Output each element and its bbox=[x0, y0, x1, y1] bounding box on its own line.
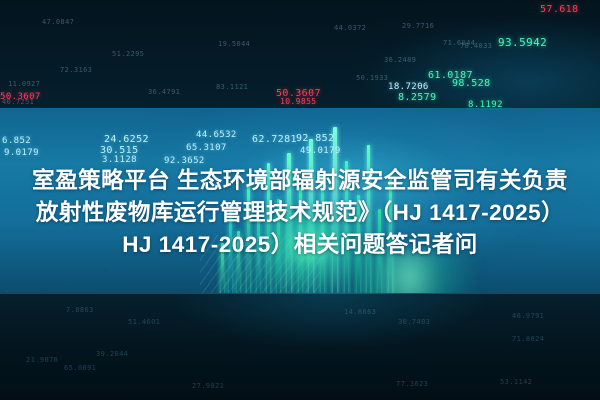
bottom-dark-band bbox=[0, 293, 600, 400]
headline-line-3: HJ 1417-2025）相关问题答记者问 bbox=[0, 229, 600, 261]
headline-line-2: 放射性废物库运行管理技术规范》（HJ 1417-2025） bbox=[0, 197, 600, 229]
band-divider-bottom bbox=[0, 293, 600, 294]
top-dark-band bbox=[0, 0, 600, 108]
headline: 室盈策略平台 生态环境部辐射源安全监管司有关负责 放射性废物库运行管理技术规范》… bbox=[0, 165, 600, 261]
headline-line-1: 室盈策略平台 生态环境部辐射源安全监管司有关负责 bbox=[0, 165, 600, 197]
news-banner: 93.594261.018798.5288.25798.119250.36071… bbox=[0, 0, 600, 400]
